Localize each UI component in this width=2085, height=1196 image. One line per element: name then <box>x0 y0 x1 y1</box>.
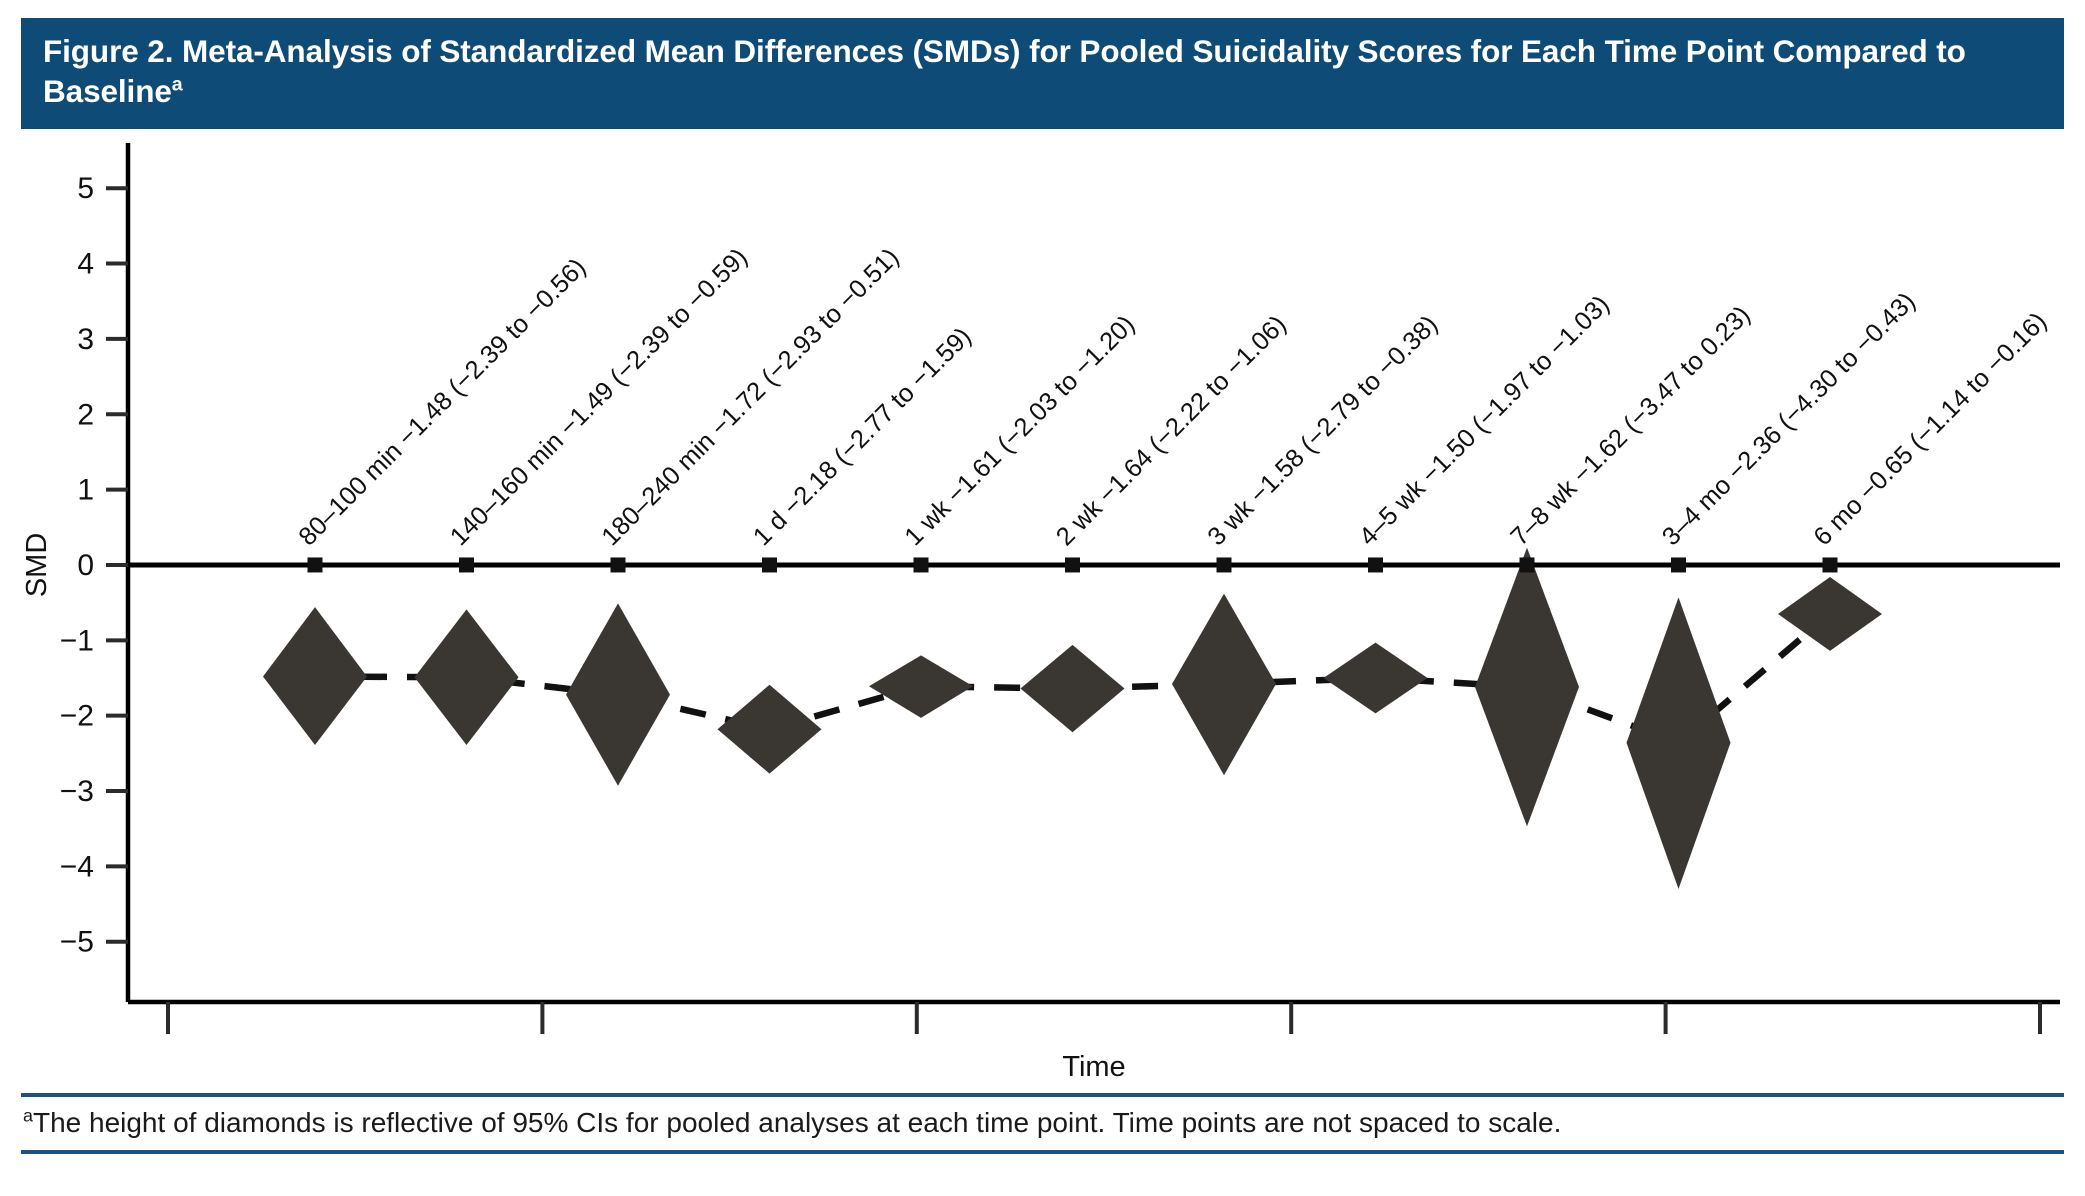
y-axis-title: SMD <box>21 533 53 597</box>
point-estimate-label: 180–240 min −1.72 (−2.93 to −0.51) <box>596 243 904 551</box>
time-point-marker <box>1823 557 1838 572</box>
point-estimate-label: 80–100 min −1.48 (−2.39 to −0.56) <box>293 253 591 551</box>
diamond-marker <box>1021 645 1125 732</box>
diamond-series <box>263 548 1882 889</box>
time-point-marker <box>1520 557 1535 572</box>
time-point-marker <box>611 557 626 572</box>
time-point-marker <box>1368 557 1383 572</box>
footnote-block: aThe height of diamonds is reflective of… <box>21 1093 2064 1154</box>
chart-area: 543210−1−2−3−4−5 80–100 min −1.48 (−2.39… <box>0 129 2085 1079</box>
figure-title-bar: Figure 2. Meta-Analysis of Standardized … <box>21 18 2064 129</box>
diamond-marker <box>869 655 973 718</box>
diamond-marker <box>1627 597 1731 889</box>
footnote-content: The height of diamonds is reflective of … <box>33 1107 1561 1138</box>
x-axis-title: Time <box>1062 1051 1125 1079</box>
y-tick-label: 3 <box>77 323 94 356</box>
y-tick-label: −4 <box>60 850 94 883</box>
point-estimate-label: 7–8 wk −1.62 (−3.47 to 0.23) <box>1505 301 1755 551</box>
figure-container: Figure 2. Meta-Analysis of Standardized … <box>0 0 2085 1196</box>
diamond-marker <box>1172 594 1276 776</box>
time-point-marker <box>1065 557 1080 572</box>
axis-titles: SMDTime <box>21 533 1126 1079</box>
diamond-marker <box>1324 643 1428 714</box>
footnote-marker: a <box>23 1106 33 1126</box>
figure-title-text: Figure 2. Meta-Analysis of Standardized … <box>43 33 1966 109</box>
y-tick-label: −2 <box>60 700 94 733</box>
diamond-marker <box>566 603 670 785</box>
footnote: aThe height of diamonds is reflective of… <box>21 1097 2064 1150</box>
point-labels: 80–100 min −1.48 (−2.39 to −0.56)140–160… <box>293 243 2052 551</box>
y-tick-label: −1 <box>60 624 94 657</box>
y-tick-label: 2 <box>77 398 94 431</box>
y-tick-label: 0 <box>77 549 94 582</box>
diamond-marker <box>1778 577 1882 651</box>
time-point-marker <box>459 557 474 572</box>
point-estimate-label: 140–160 min −1.49 (−2.39 to −0.59) <box>445 243 753 551</box>
y-tick-label: 1 <box>77 474 94 507</box>
page-title: Figure 2. Meta-Analysis of Standardized … <box>43 32 2042 111</box>
diamond-marker <box>263 607 367 745</box>
time-point-marker <box>762 557 777 572</box>
y-tick-label: 4 <box>77 248 94 281</box>
time-point-marker <box>308 557 323 572</box>
y-tick-label: −5 <box>60 926 94 959</box>
time-point-marker <box>914 557 929 572</box>
diamond-marker <box>415 609 519 745</box>
y-tick-label: 5 <box>77 172 94 205</box>
forest-plot-svg: 543210−1−2−3−4−5 80–100 min −1.48 (−2.39… <box>0 129 2085 1079</box>
time-point-marker <box>1671 557 1686 572</box>
figure-title-footnote-marker: a <box>172 73 183 95</box>
point-estimate-label: 4–5 wk −1.50 (−1.97 to −1.03) <box>1354 290 1615 551</box>
y-tick-label: −3 <box>60 775 94 808</box>
diamond-marker <box>1475 548 1579 827</box>
y-axis: 543210−1−2−3−4−5 <box>60 143 128 1002</box>
time-point-marker <box>1217 557 1232 572</box>
diamond-marker <box>718 685 822 774</box>
footnote-rule-bottom <box>21 1150 2064 1154</box>
point-estimate-label: 3–4 mo −2.36 (−4.30 to −0.43) <box>1657 287 1921 551</box>
x-axis <box>128 1002 2060 1034</box>
